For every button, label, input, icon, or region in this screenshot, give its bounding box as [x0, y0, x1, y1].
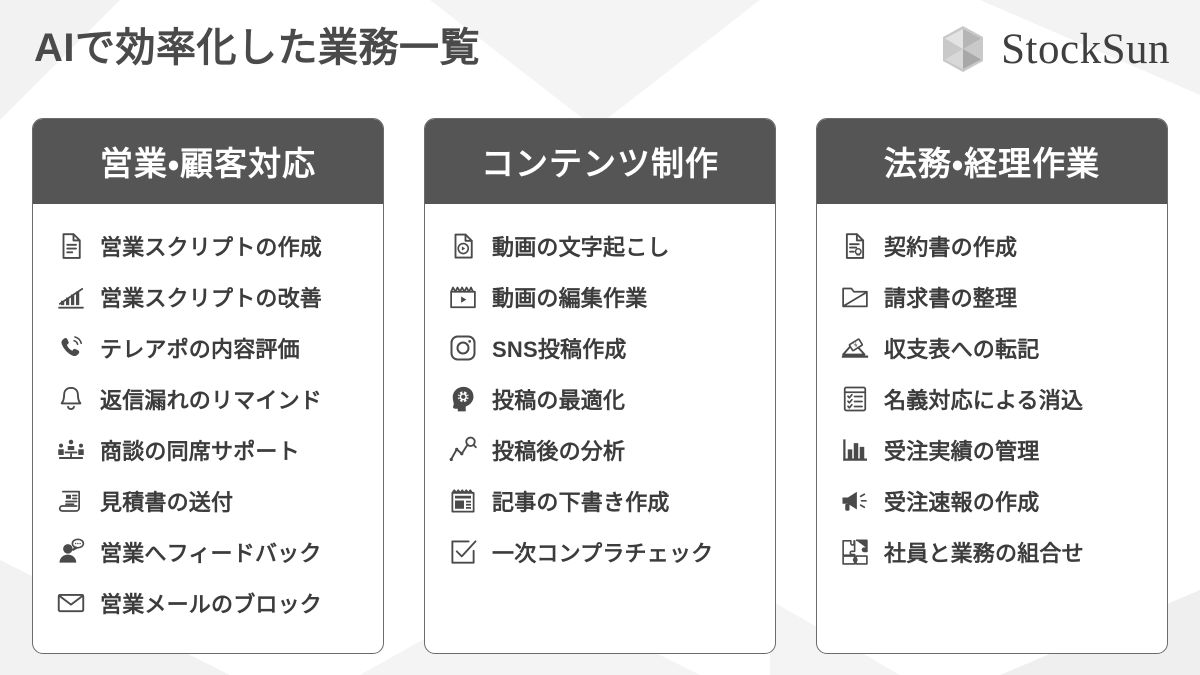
task-item[interactable]: 一次コンプラチェック [447, 526, 775, 577]
card-sales-customer: 営業・顧客対応 営業スクリプトの作成 [32, 118, 384, 654]
card-body-legal-accounting: 契約書の作成 請求書の整理 [817, 204, 1167, 653]
meeting-people-icon [55, 434, 87, 466]
task-item[interactable]: 投稿後の分析 [447, 424, 775, 475]
task-label: 収支表への転記 [884, 332, 1039, 364]
card-header-legal-accounting: 法務・経理作業 [816, 118, 1168, 204]
person-speech-bubble-icon [55, 536, 87, 568]
task-label: 投稿後の分析 [492, 434, 625, 466]
task-label: SNS投稿作成 [492, 332, 627, 364]
task-label: 商談の同席サポート [100, 434, 300, 466]
contract-seal-icon [839, 230, 871, 262]
scroll-invoice-icon [55, 485, 87, 517]
task-item[interactable]: 記事の下書き作成 [447, 475, 775, 526]
hexagon-gem-icon [941, 25, 985, 73]
clapperboard-icon [447, 281, 479, 313]
newspaper-icon [447, 485, 479, 517]
checklist-clipboard-icon [839, 383, 871, 415]
phone-ringing-icon [55, 332, 87, 364]
task-item[interactable]: 投稿の最適化 [447, 373, 775, 424]
puzzle-pieces-icon [839, 536, 871, 568]
task-item[interactable]: 社員と業務の組合せ [839, 526, 1167, 577]
task-item[interactable]: 動画の文字起こし [447, 220, 775, 271]
task-label: 返信漏れのリマインド [100, 383, 322, 415]
instagram-camera-icon [447, 332, 479, 364]
card-header-content-production: コンテンツ制作 [424, 118, 776, 204]
bar-chart-growth-icon [55, 281, 87, 313]
folder-open-icon [839, 281, 871, 313]
task-item[interactable]: 営業へフィードバック [55, 526, 383, 577]
money-transfer-icon: ¥ [839, 332, 871, 364]
task-item[interactable]: 名義対応による消込 [839, 373, 1167, 424]
task-item[interactable]: 返信漏れのリマインド [55, 373, 383, 424]
task-columns: 営業・顧客対応 営業スクリプトの作成 [32, 118, 1168, 654]
card-body-sales-customer: 営業スクリプトの作成 営業スクリプトの改善 [33, 204, 383, 653]
card-content-production: コンテンツ制作 動画の文字起こし [424, 118, 776, 654]
task-label: 投稿の最適化 [492, 383, 625, 415]
task-label: テレアポの内容評価 [100, 332, 300, 364]
page-title: AIで効率化した業務一覧 [34, 24, 480, 72]
document-lines-icon [55, 230, 87, 262]
task-label: 記事の下書き作成 [492, 485, 670, 517]
task-item[interactable]: 請求書の整理 [839, 271, 1167, 322]
task-label: 受注実績の管理 [884, 434, 1039, 466]
task-item[interactable]: 契約書の作成 [839, 220, 1167, 271]
task-label: 動画の編集作業 [492, 281, 647, 313]
task-item[interactable]: SNS投稿作成 [447, 322, 775, 373]
task-item[interactable]: 商談の同席サポート [55, 424, 383, 475]
task-item[interactable]: 動画の編集作業 [447, 271, 775, 322]
envelope-icon [55, 587, 87, 619]
task-item[interactable]: 営業メールのブロック [55, 577, 383, 628]
task-label: 社員と業務の組合せ [884, 536, 1084, 568]
task-item[interactable]: 営業スクリプトの改善 [55, 271, 383, 322]
task-item[interactable]: テレアポの内容評価 [55, 322, 383, 373]
task-label: 営業スクリプトの作成 [100, 230, 322, 262]
task-label: 契約書の作成 [884, 230, 1017, 262]
brand-logo: StockSun [941, 25, 1170, 73]
megaphone-icon [839, 485, 871, 517]
task-label: 請求書の整理 [884, 281, 1017, 313]
task-item[interactable]: 見積書の送付 [55, 475, 383, 526]
task-item[interactable]: ¥ 収支表への転記 [839, 322, 1167, 373]
page-header: AIで効率化した業務一覧 StockSun [0, 0, 1200, 108]
task-label: 見積書の送付 [100, 485, 233, 517]
bar-chart-icon [839, 434, 871, 466]
task-label: 一次コンプラチェック [492, 536, 713, 568]
card-header-sales-customer: 営業・顧客対応 [32, 118, 384, 204]
card-body-content-production: 動画の文字起こし 動画の編集作業 [425, 204, 775, 653]
task-label: 動画の文字起こし [492, 230, 670, 262]
task-item[interactable]: 営業スクリプトの作成 [55, 220, 383, 271]
task-item[interactable]: 受注実績の管理 [839, 424, 1167, 475]
task-label: 営業メールのブロック [100, 587, 322, 619]
line-chart-analysis-icon [447, 434, 479, 466]
bell-icon [55, 383, 87, 415]
head-gear-icon [447, 383, 479, 415]
task-label: 受注速報の作成 [884, 485, 1039, 517]
task-label: 名義対応による消込 [884, 383, 1083, 415]
brand-name: StockSun [1001, 28, 1170, 71]
checkbox-check-icon [447, 536, 479, 568]
task-label: 営業スクリプトの改善 [100, 281, 322, 313]
task-item[interactable]: 受注速報の作成 [839, 475, 1167, 526]
card-legal-accounting: 法務・経理作業 契約書の作成 [816, 118, 1168, 654]
video-file-play-icon [447, 230, 479, 262]
task-label: 営業へフィードバック [100, 536, 322, 568]
